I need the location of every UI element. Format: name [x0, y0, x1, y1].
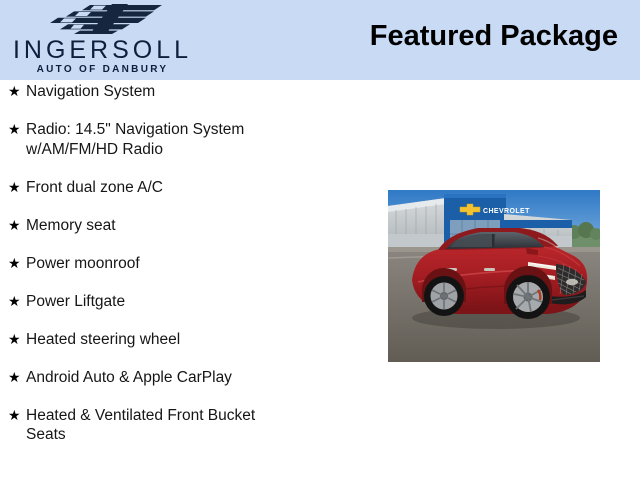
vehicle-photo: CHEVROLET — [388, 190, 600, 362]
feature-item-label: Heated & Ventilated Front Bucket Seats — [26, 406, 360, 445]
feature-item: ★Power moonroof — [0, 254, 360, 274]
feature-item-label: Power Liftgate — [26, 292, 360, 312]
feature-item-label: Memory seat — [26, 216, 360, 236]
feature-item: ★Navigation System — [0, 82, 360, 102]
page-title: Featured Package — [370, 21, 618, 53]
svg-text:CHEVROLET: CHEVROLET — [483, 208, 530, 215]
star-bullet-icon: ★ — [8, 216, 26, 236]
star-bullet-icon: ★ — [8, 330, 26, 350]
star-bullet-icon: ★ — [8, 368, 26, 388]
feature-item: ★Front dual zone A/C — [0, 178, 360, 198]
dealer-brand-tagline: AUTO OF DANBURY — [0, 65, 205, 75]
dealer-logo: INGERSOLL AUTO OF DANBURY — [0, 2, 205, 78]
feature-item-label: Radio: 14.5" Navigation System w/AM/FM/H… — [26, 120, 360, 159]
star-bullet-icon: ★ — [8, 82, 26, 102]
feature-item: ★Power Liftgate — [0, 292, 360, 312]
star-bullet-icon: ★ — [8, 406, 26, 426]
feature-item: ★Heated steering wheel — [0, 330, 360, 350]
feature-item-label: Navigation System — [26, 82, 360, 102]
feature-item: ★Radio: 14.5" Navigation System w/AM/FM/… — [0, 120, 360, 159]
feature-item-label: Heated steering wheel — [26, 330, 360, 350]
feature-item: ★Android Auto & Apple CarPlay — [0, 368, 360, 388]
ingersoll-wing-logo-icon — [50, 4, 168, 34]
feature-item-label: Android Auto & Apple CarPlay — [26, 368, 360, 388]
feature-item: ★Memory seat — [0, 216, 360, 236]
dealer-brand-name: INGERSOLL — [0, 38, 205, 63]
feature-item-label: Power moonroof — [26, 254, 360, 274]
star-bullet-icon: ★ — [8, 120, 26, 140]
feature-item: ★Heated & Ventilated Front Bucket Seats — [0, 406, 360, 445]
star-bullet-icon: ★ — [8, 254, 26, 274]
header-band: INGERSOLL AUTO OF DANBURY Featured Packa… — [0, 0, 640, 80]
feature-list: ★Navigation System★Radio: 14.5" Navigati… — [0, 82, 360, 463]
star-bullet-icon: ★ — [8, 178, 26, 198]
star-bullet-icon: ★ — [8, 292, 26, 312]
feature-item-label: Front dual zone A/C — [26, 178, 360, 198]
